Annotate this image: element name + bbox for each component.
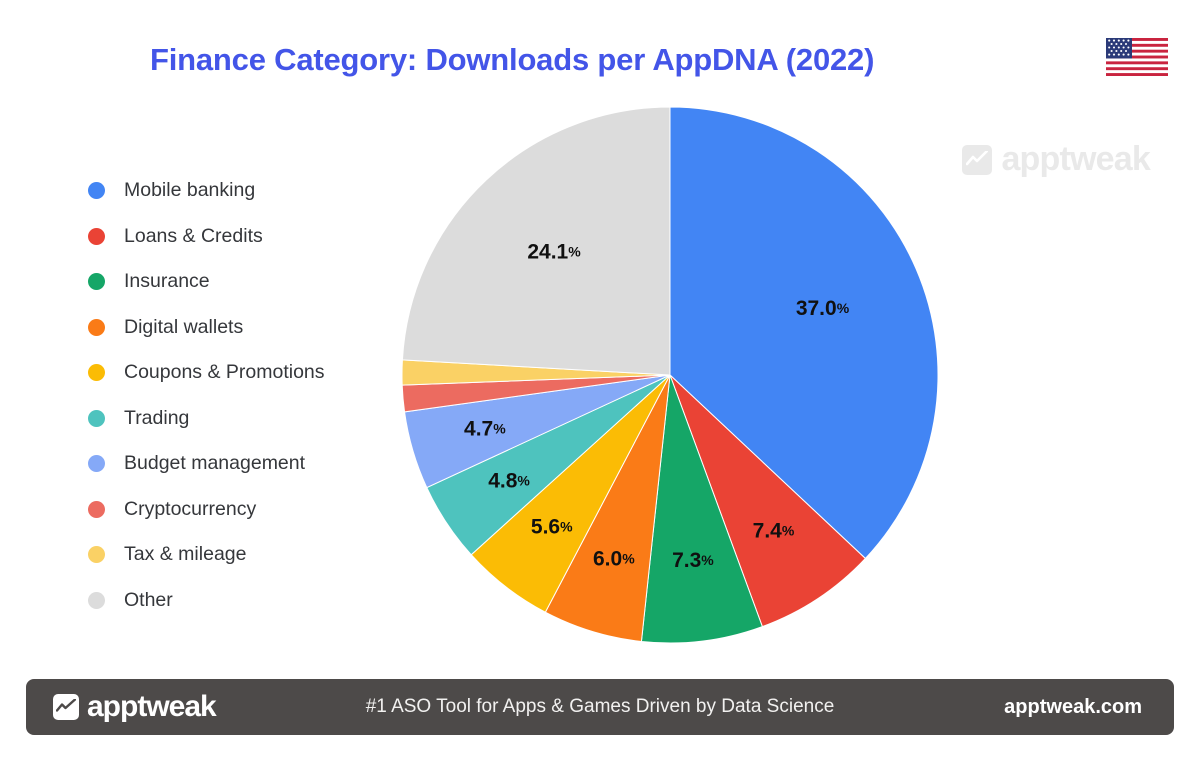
legend-item-label: Trading [124, 407, 189, 430]
footer-bar: apptweak #1 ASO Tool for Apps & Games Dr… [26, 679, 1174, 735]
legend-item[interactable]: Other [88, 578, 398, 624]
legend-swatch-icon [88, 592, 105, 609]
legend-item-label: Budget management [124, 452, 305, 475]
legend-item[interactable]: Mobile banking [88, 168, 398, 214]
apptweak-logo[interactable]: apptweak [53, 690, 216, 724]
legend-item[interactable]: Trading [88, 396, 398, 442]
legend-item-label: Digital wallets [124, 316, 243, 339]
apptweak-logo-text: apptweak [87, 690, 216, 724]
legend-item[interactable]: Cryptocurrency [88, 487, 398, 533]
apptweak-mark-icon [962, 145, 992, 175]
legend-item[interactable]: Loans & Credits [88, 214, 398, 260]
footer-url[interactable]: apptweak.com [1004, 696, 1142, 719]
pie-chart-svg: 37.0%7.4%7.3%6.0%5.6%4.8%4.7%24.1% [400, 105, 940, 645]
legend-swatch-icon [88, 455, 105, 472]
legend-swatch-icon [88, 319, 105, 336]
pie-chart: 37.0%7.4%7.3%6.0%5.6%4.8%4.7%24.1% [400, 105, 940, 645]
legend-item[interactable]: Budget management [88, 441, 398, 487]
legend-item-label: Other [124, 589, 173, 612]
legend-swatch-icon [88, 364, 105, 381]
chart-page: Finance Category: Downloads per AppDNA (… [0, 0, 1200, 760]
legend-swatch-icon [88, 182, 105, 199]
legend-swatch-icon [88, 410, 105, 427]
apptweak-watermark-text: apptweak [1001, 140, 1150, 179]
legend-swatch-icon [88, 546, 105, 563]
legend-item-label: Insurance [124, 270, 210, 293]
page-title: Finance Category: Downloads per AppDNA (… [150, 42, 874, 78]
legend-item-label: Cryptocurrency [124, 498, 256, 521]
apptweak-mark-icon [53, 694, 79, 720]
legend-item-label: Mobile banking [124, 179, 255, 202]
legend-item-label: Loans & Credits [124, 225, 263, 248]
legend-item-label: Coupons & Promotions [124, 361, 325, 384]
chart-legend: Mobile bankingLoans & CreditsInsuranceDi… [88, 168, 398, 623]
us-flag-icon [1106, 38, 1168, 76]
legend-swatch-icon [88, 501, 105, 518]
legend-item[interactable]: Coupons & Promotions [88, 350, 398, 396]
legend-item-label: Tax & mileage [124, 543, 246, 566]
legend-item[interactable]: Tax & mileage [88, 532, 398, 578]
apptweak-watermark: apptweak [962, 140, 1150, 179]
legend-swatch-icon [88, 273, 105, 290]
legend-swatch-icon [88, 228, 105, 245]
legend-item[interactable]: Insurance [88, 259, 398, 305]
legend-item[interactable]: Digital wallets [88, 305, 398, 351]
